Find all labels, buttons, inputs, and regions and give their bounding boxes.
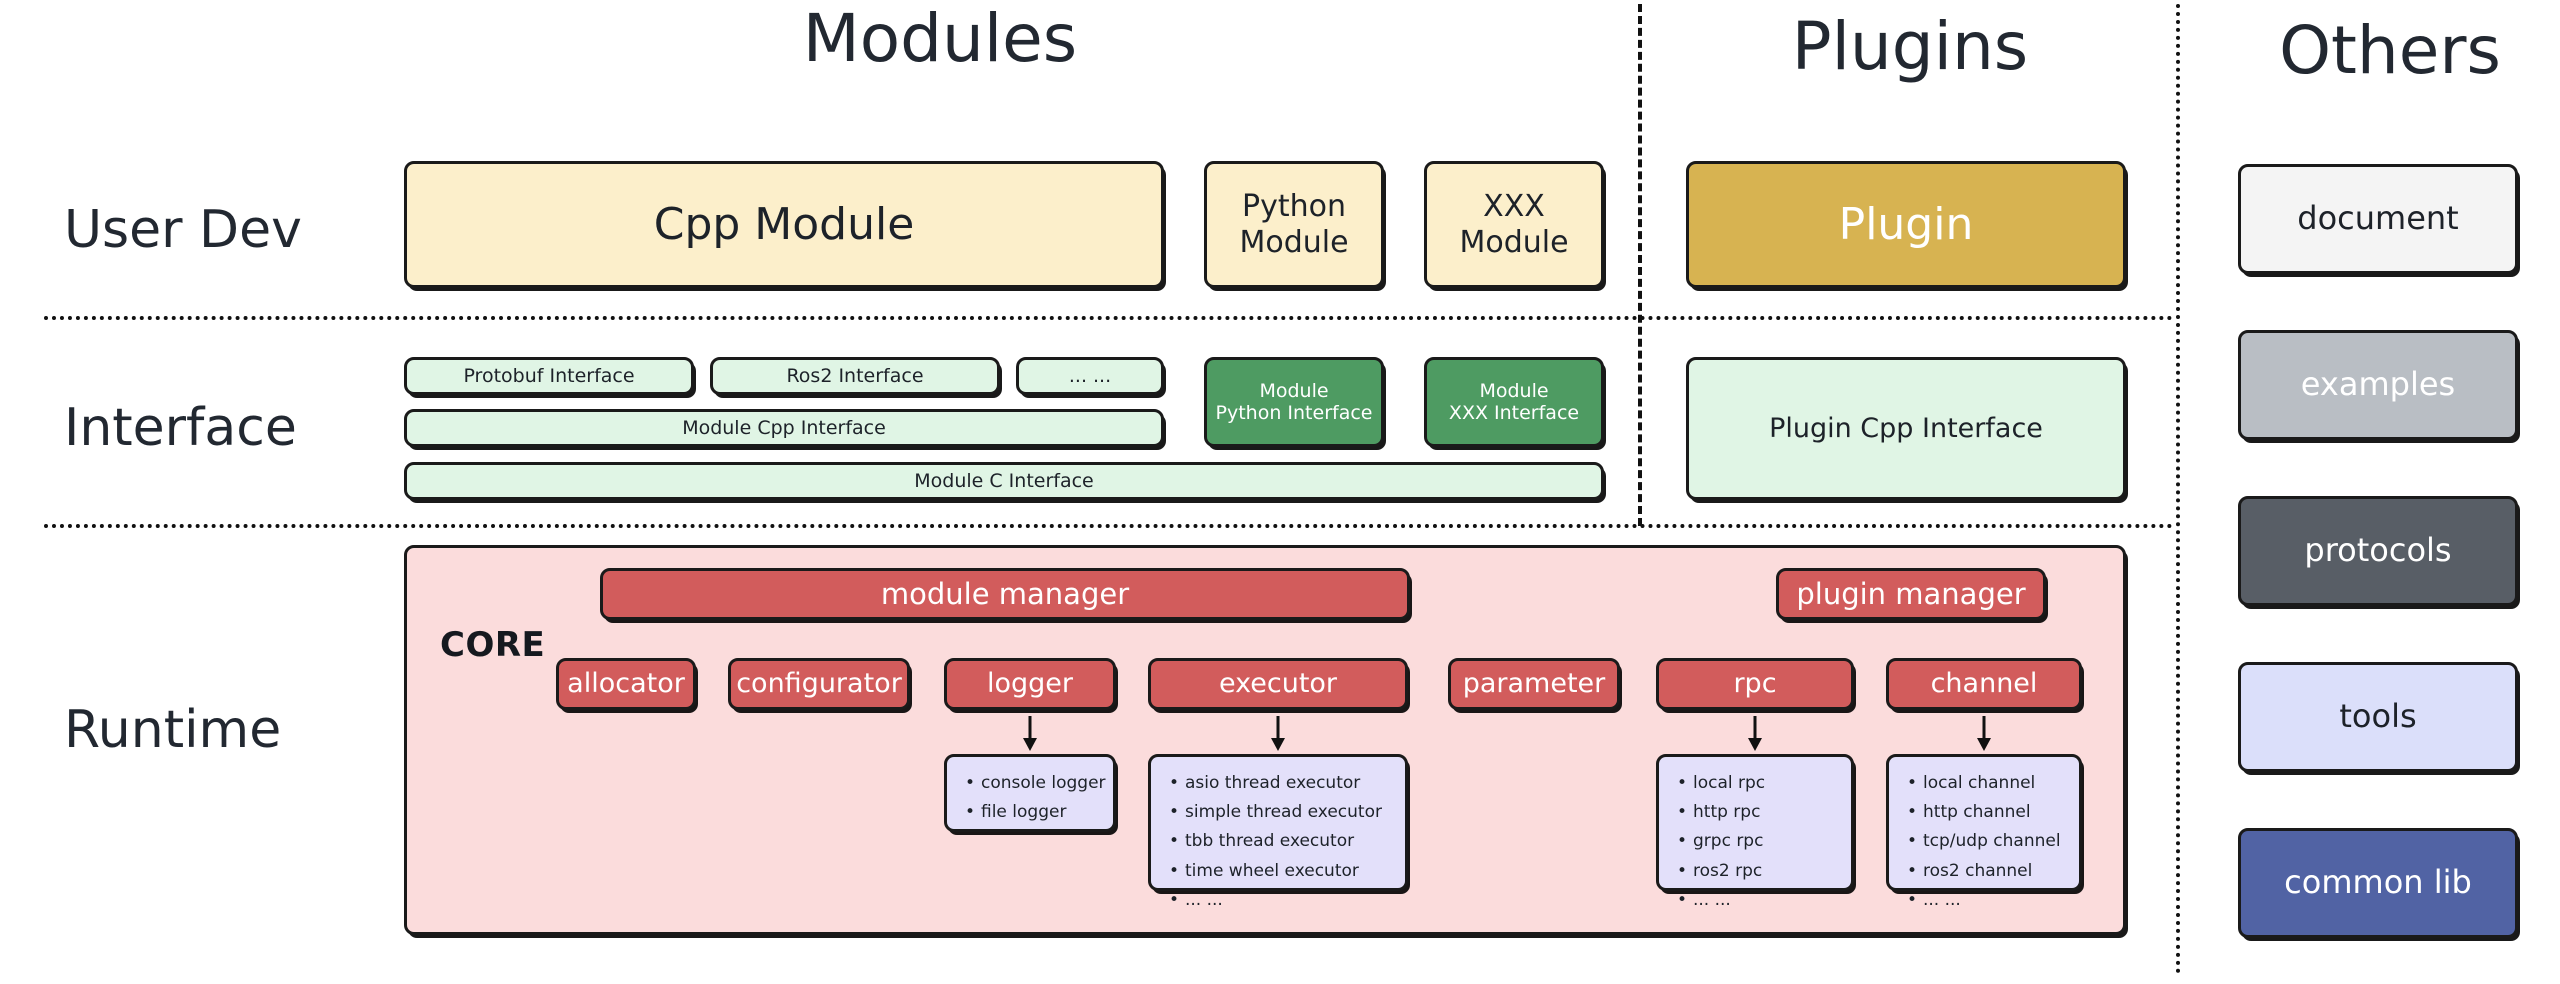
node-ros2-interface[interactable]: Ros2 Interface [710,357,1000,395]
list-item: ... ... [1185,886,1395,915]
column-title-modules: Modules [700,0,1180,77]
arrow-down-channel [1970,716,1998,752]
node-protobuf-interface[interactable]: Protobuf Interface [404,357,694,395]
node-module-xxx-interface[interactable]: Module XXX Interface [1424,357,1604,447]
node-logger[interactable]: logger [944,658,1116,710]
detail-list-channel: local channel http channel tcp/udp chann… [1903,769,2069,915]
list-item: grpc rpc [1693,827,1841,856]
node-allocator[interactable]: allocator [556,658,696,710]
detail-box-channel: local channel http channel tcp/udp chann… [1886,754,2082,891]
node-more-interface[interactable]: ... ... [1016,357,1164,395]
detail-list-rpc: local rpc http rpc grpc rpc ros2 rpc ...… [1673,769,1841,915]
node-module-manager[interactable]: module manager [600,568,1410,620]
node-plugin-cpp-interface[interactable]: Plugin Cpp Interface [1686,357,2126,500]
node-plugin[interactable]: Plugin [1686,161,2126,288]
list-item: tcp/udp channel [1923,827,2069,856]
core-label: CORE [440,625,545,665]
detail-box-executor: asio thread executor simple thread execu… [1148,754,1408,891]
row-label-user-dev: User Dev [64,200,302,260]
node-cpp-module[interactable]: Cpp Module [404,161,1164,288]
node-others-protocols[interactable]: protocols [2238,496,2518,606]
node-rpc[interactable]: rpc [1656,658,1854,710]
architecture-diagram: Modules Plugins Others User Dev Interfac… [0,0,2560,984]
node-channel[interactable]: channel [1886,658,2082,710]
divider-userdev-interface [44,316,2174,320]
list-item: ros2 rpc [1693,857,1841,886]
column-title-others: Others [2230,12,2550,89]
list-item: http channel [1923,798,2069,827]
node-others-common-lib[interactable]: common lib [2238,828,2518,938]
divider-modules-plugins [1638,4,1642,526]
node-module-c-interface[interactable]: Module C Interface [404,462,1604,500]
list-item: file logger [981,798,1103,827]
list-item: tbb thread executor [1185,827,1395,856]
divider-interface-runtime [44,524,2174,528]
list-item: simple thread executor [1185,798,1395,827]
detail-box-logger: console logger file logger [944,754,1116,832]
node-others-examples[interactable]: examples [2238,330,2518,440]
row-label-interface: Interface [64,398,297,458]
list-item: time wheel executor [1185,857,1395,886]
arrow-down-executor [1264,716,1292,752]
node-others-document[interactable]: document [2238,164,2518,274]
list-item: http rpc [1693,798,1841,827]
column-title-plugins: Plugins [1700,8,2120,85]
detail-list-executor: asio thread executor simple thread execu… [1165,769,1395,915]
node-parameter[interactable]: parameter [1448,658,1620,710]
detail-list-logger: console logger file logger [961,769,1103,827]
node-module-python-interface[interactable]: Module Python Interface [1204,357,1384,447]
node-others-tools[interactable]: tools [2238,662,2518,772]
list-item: console logger [981,769,1103,798]
node-python-module[interactable]: Python Module [1204,161,1384,288]
row-label-runtime: Runtime [64,700,281,760]
detail-box-rpc: local rpc http rpc grpc rpc ros2 rpc ...… [1656,754,1854,891]
list-item: local rpc [1693,769,1841,798]
divider-plugins-others [2176,4,2180,974]
list-item: ... ... [1923,886,2069,915]
node-xxx-module[interactable]: XXX Module [1424,161,1604,288]
list-item: ros2 channel [1923,857,2069,886]
node-plugin-manager[interactable]: plugin manager [1776,568,2046,620]
arrow-down-logger [1016,716,1044,752]
list-item: asio thread executor [1185,769,1395,798]
node-configurator[interactable]: configurator [728,658,910,710]
node-executor[interactable]: executor [1148,658,1408,710]
list-item: local channel [1923,769,2069,798]
node-module-cpp-interface[interactable]: Module Cpp Interface [404,409,1164,447]
list-item: ... ... [1693,886,1841,915]
arrow-down-rpc [1741,716,1769,752]
